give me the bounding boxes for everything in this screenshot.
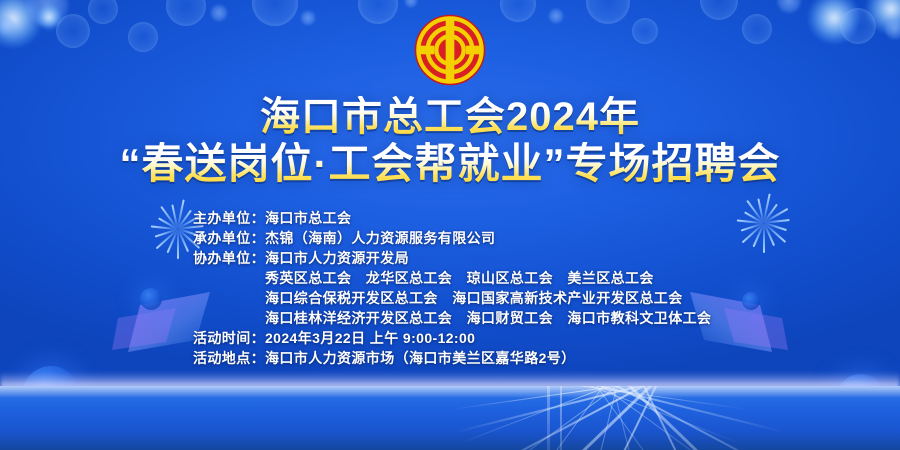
info-value: 海口市人力资源开发局 [265,248,409,268]
info-row-undertaker: 承办单位： 杰锦（海南）人力资源服务有限公司 [0,228,900,248]
info-value: 海口市人力资源市场（海口市美兰区嘉华路2号） [265,348,576,368]
info-row-event-time: 活动时间： 2024年3月22日 上午 9:00-12:00 [0,328,900,348]
title-line-2: “春送岗位·工会帮就业”专场招聘会 [0,142,900,187]
info-row-event-location: 活动地点： 海口市人力资源市场（海口市美兰区嘉华路2号） [0,348,900,368]
title-line-1: 海口市总工会2024年 [0,96,900,138]
info-value: 秀英区总工会 龙华区总工会 琼山区总工会 美兰区总工会 [265,268,654,288]
info-label: 活动时间： [0,328,265,348]
info-row-organizer: 主办单位： 海口市总工会 [0,208,900,228]
info-row-coorganizer-cont-3: 海口桂林洋经济开发区总工会 海口财贸工会 海口市教科文卫体工会 [0,308,900,328]
info-label: 协办单位： [0,248,265,268]
info-value: 杰锦（海南）人力资源服务有限公司 [265,228,495,248]
info-value: 海口市总工会 [265,208,351,228]
info-row-coorganizer-cont-2: 海口综合保税开发区总工会 海口国家高新技术产业开发区总工会 [0,288,900,308]
info-value: 海口综合保税开发区总工会 海口国家高新技术产业开发区总工会 [265,288,683,308]
info-label: 活动地点： [0,348,265,368]
info-row-coorganizer-cont-1: 秀英区总工会 龙华区总工会 琼山区总工会 美兰区总工会 [0,268,900,288]
info-value: 海口桂林洋经济开发区总工会 海口财贸工会 海口市教科文卫体工会 [265,308,711,328]
info-label: 承办单位： [0,228,265,248]
info-value: 2024年3月22日 上午 9:00-12:00 [265,328,475,348]
poster-info-block: 主办单位： 海口市总工会 承办单位： 杰锦（海南）人力资源服务有限公司 协办单位… [0,208,900,368]
recruitment-poster: 海口市总工会2024年 “春送岗位·工会帮就业”专场招聘会 主办单位： 海口市总… [0,0,900,450]
poster-title-block: 海口市总工会2024年 “春送岗位·工会帮就业”专场招聘会 [0,96,900,187]
acftu-union-emblem [414,14,486,86]
info-row-coorganizer: 协办单位： 海口市人力资源开发局 [0,248,900,268]
perspective-floor [0,386,900,450]
info-label: 主办单位： [0,208,265,228]
